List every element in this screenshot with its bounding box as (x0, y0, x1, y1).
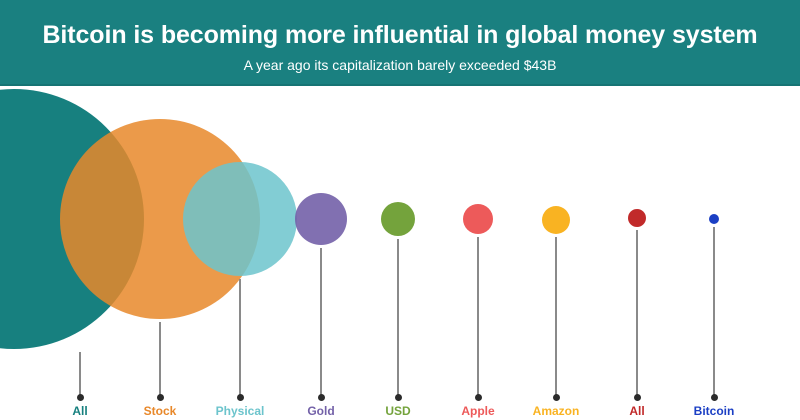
category-label-stock-1[interactable]: Stock (144, 404, 177, 418)
category-label-apple-5[interactable]: Apple (461, 404, 494, 418)
category-label-physical-2[interactable]: Physical (216, 404, 265, 418)
category-label-bitcoin-8[interactable]: Bitcoin (694, 404, 735, 418)
category-label-all-0[interactable]: All (72, 404, 87, 418)
category-label-all-7[interactable]: All (629, 404, 644, 418)
page-subtitle: A year ago its capitalization barely exc… (0, 50, 800, 74)
category-label-layer: AllStockPhysicalGoldUSDAppleAmazonAllBit… (0, 86, 800, 420)
category-label-amazon-6[interactable]: Amazon (533, 404, 580, 418)
infographic-root: Bitcoin is becoming more influential in … (0, 0, 800, 420)
bubble-chart: AllStockPhysicalGoldUSDAppleAmazonAllBit… (0, 86, 800, 420)
category-label-gold-3[interactable]: Gold (307, 404, 334, 418)
page-title: Bitcoin is becoming more influential in … (0, 0, 800, 50)
category-label-usd-4[interactable]: USD (385, 404, 410, 418)
header-banner: Bitcoin is becoming more influential in … (0, 0, 800, 86)
